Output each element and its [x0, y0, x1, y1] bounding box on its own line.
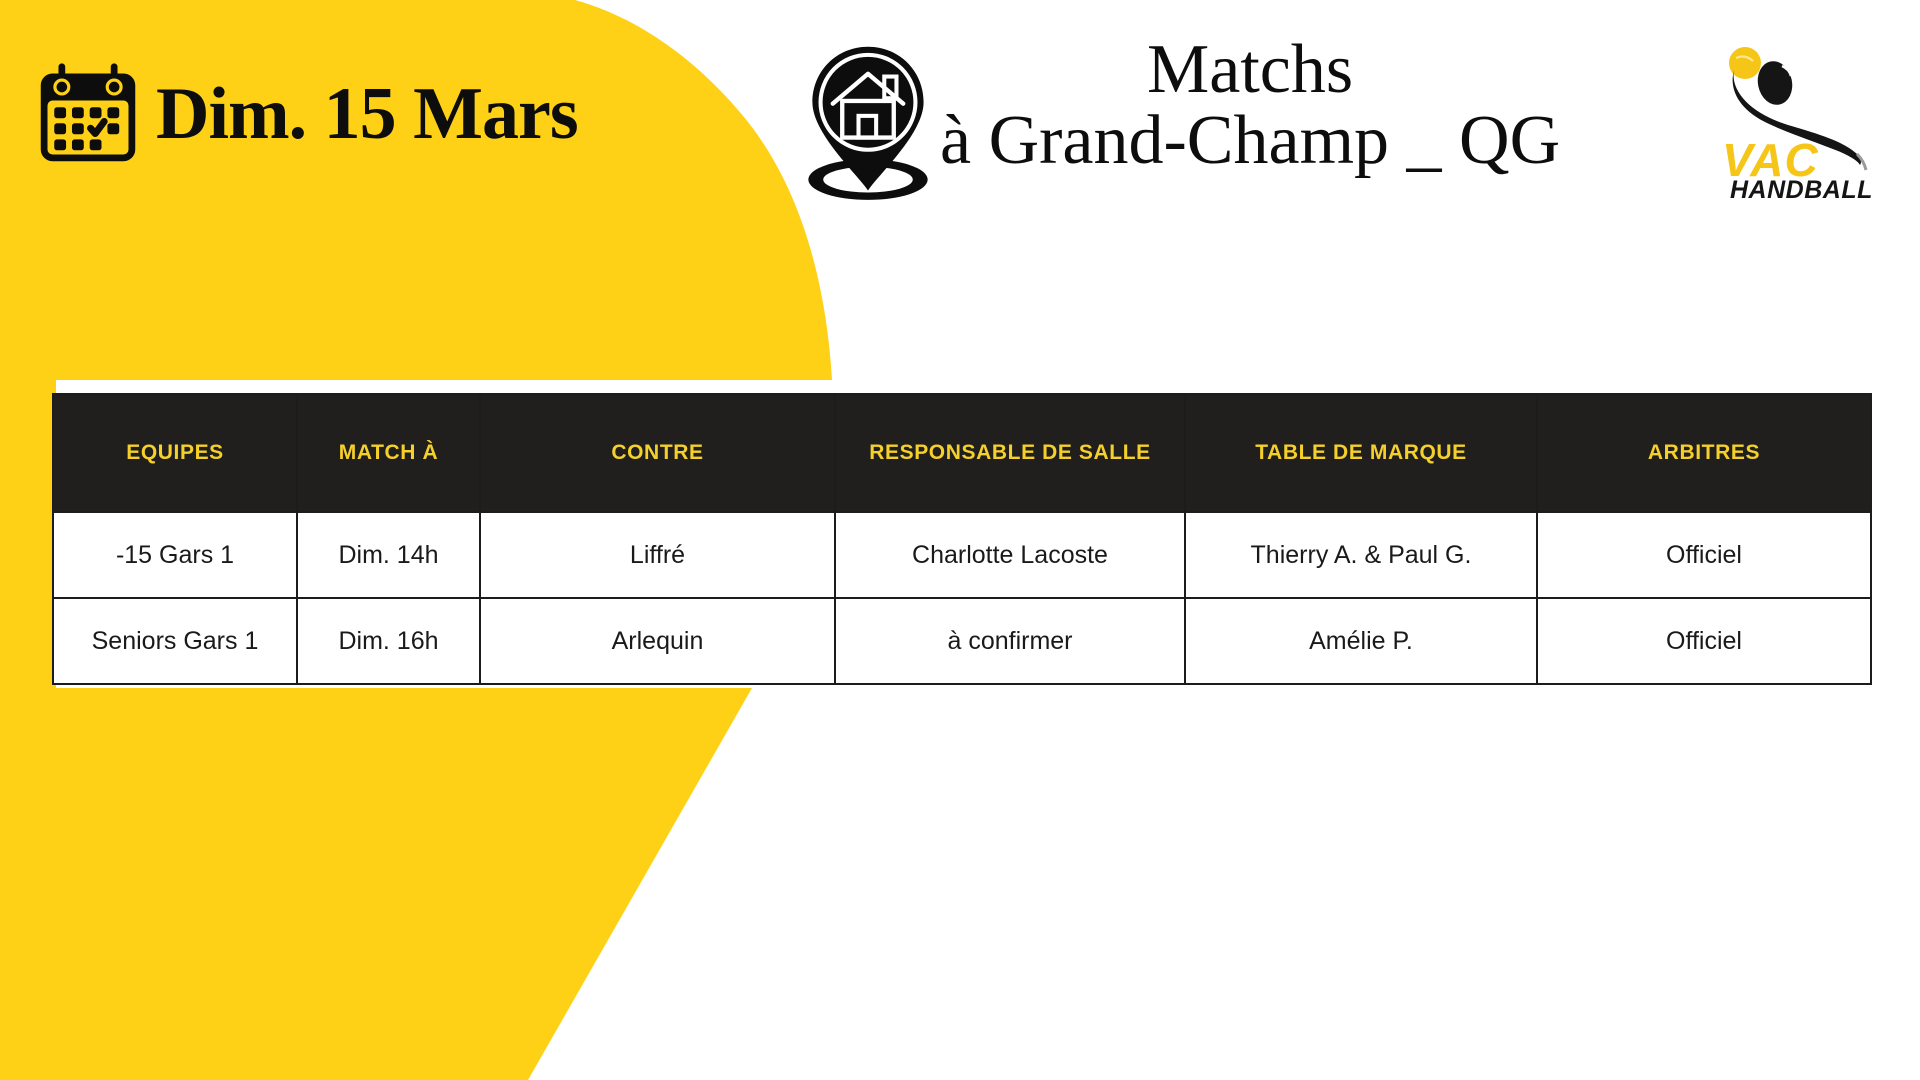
column-header-match-a: MATCH À — [297, 394, 480, 512]
page-header: Dim. 15 Mars Matchs à Grand-Champ _ QG — [0, 0, 1920, 240]
vac-handball-logo: VAC HANDBALL — [1712, 30, 1902, 200]
yellow-wedge-bottom-left — [0, 688, 752, 1080]
cell-equipes: Seniors Gars 1 — [53, 598, 297, 684]
cell-contre: Liffré — [480, 512, 835, 598]
cell-arbitres: Officiel — [1537, 512, 1871, 598]
venue-title-line1: Matchs — [940, 34, 1560, 105]
cell-match-a: Dim. 16h — [297, 598, 480, 684]
schedule-table: EQUIPES MATCH À CONTRE RESPONSABLE DE SA… — [52, 393, 1872, 685]
schedule-table-wrapper: EQUIPES MATCH À CONTRE RESPONSABLE DE SA… — [52, 393, 1870, 685]
cell-responsable: Charlotte Lacoste — [835, 512, 1185, 598]
venue-title-line2: à Grand-Champ _ QG — [940, 105, 1560, 176]
date-block: Dim. 15 Mars — [34, 60, 578, 168]
column-header-contre: CONTRE — [480, 394, 835, 512]
logo-brand-bottom: HANDBALL — [1730, 176, 1873, 200]
cell-table-marque: Amélie P. — [1185, 598, 1537, 684]
cell-equipes: -15 Gars 1 — [53, 512, 297, 598]
date-label: Dim. 15 Mars — [156, 77, 578, 151]
column-header-table-marque: TABLE DE MARQUE — [1185, 394, 1537, 512]
cell-contre: Arlequin — [480, 598, 835, 684]
calendar-icon — [34, 60, 142, 168]
venue-block: Matchs à Grand-Champ _ QG — [800, 26, 1560, 204]
venue-title: Matchs à Grand-Champ _ QG — [940, 34, 1560, 177]
table-header-row: EQUIPES MATCH À CONTRE RESPONSABLE DE SA… — [53, 394, 1871, 512]
column-header-equipes: EQUIPES — [53, 394, 297, 512]
cell-arbitres: Officiel — [1537, 598, 1871, 684]
column-header-arbitres: ARBITRES — [1537, 394, 1871, 512]
cell-match-a: Dim. 14h — [297, 512, 480, 598]
cell-responsable: à confirmer — [835, 598, 1185, 684]
cell-table-marque: Thierry A. & Paul G. — [1185, 512, 1537, 598]
location-pin-house-icon — [800, 26, 936, 204]
logo-ball — [1729, 47, 1761, 79]
yellow-band-behind-table — [0, 378, 56, 690]
table-row: Seniors Gars 1 Dim. 16h Arlequin à confi… — [53, 598, 1871, 684]
table-row: -15 Gars 1 Dim. 14h Liffré Charlotte Lac… — [53, 512, 1871, 598]
column-header-responsable: RESPONSABLE DE SALLE — [835, 394, 1185, 512]
